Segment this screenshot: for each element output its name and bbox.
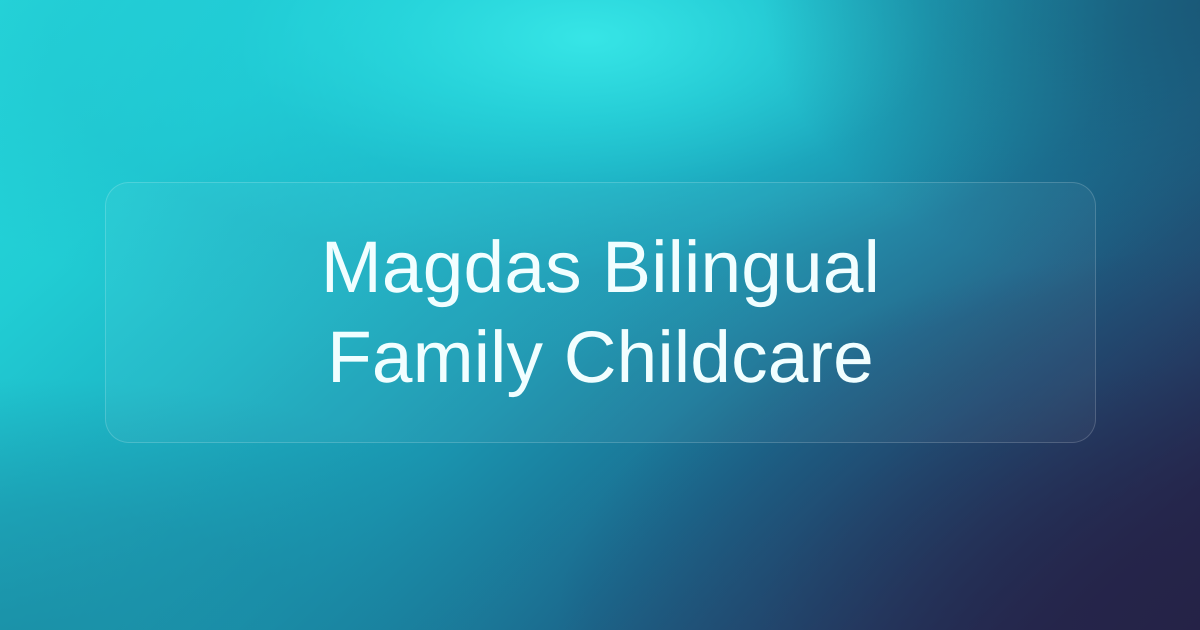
og-banner-canvas: Magdas Bilingual Family Childcare [0, 0, 1200, 630]
title-card: Magdas Bilingual Family Childcare [105, 182, 1096, 443]
page-title: Magdas Bilingual Family Childcare [321, 223, 880, 403]
